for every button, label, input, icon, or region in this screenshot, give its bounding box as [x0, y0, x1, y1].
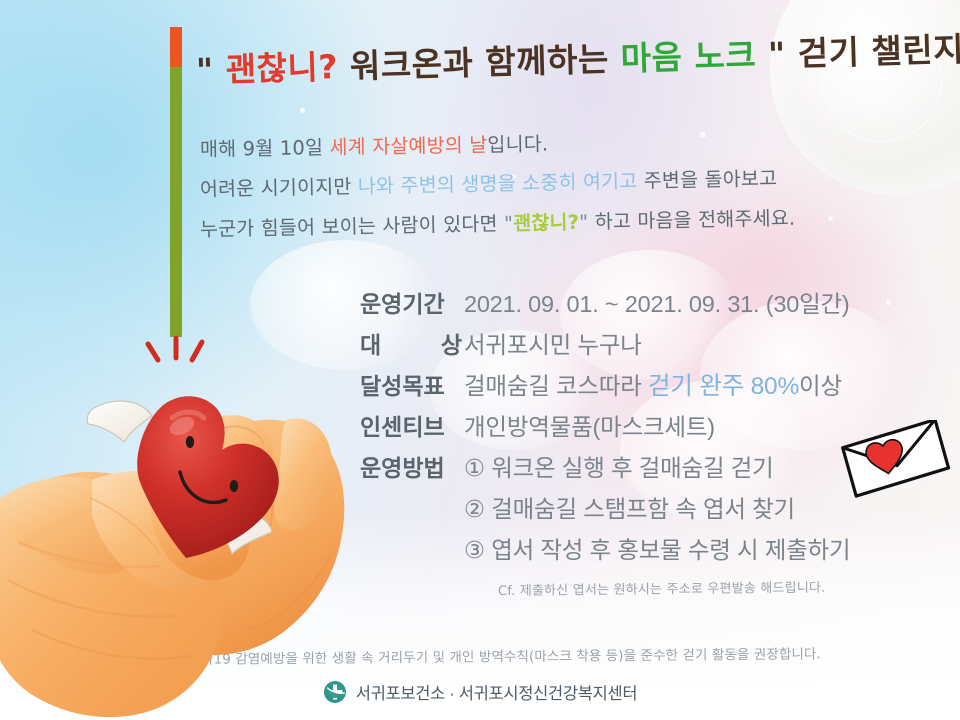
detail-value-goal: 걸매숨길 코스따라 걷기 완주 80%이상	[464, 367, 842, 402]
intro-line3-a: 누군가 힘들어 보이는 사람이 있다면	[200, 212, 504, 241]
intro-line2-a: 어려운 시기이지만	[200, 175, 358, 201]
intro-line3-c: 하고 마음을 전해주세요.	[588, 207, 795, 234]
intro-line1-a: 매해 9월 10일	[200, 136, 330, 161]
detail-label-target: 대 상	[360, 326, 464, 360]
title-close-quote: "	[768, 35, 787, 74]
cf-note: Cf. 제출하신 엽서는 원하시는 주소로 우편발송 해드립니다.	[498, 577, 826, 599]
title-open-quote: "	[196, 51, 215, 90]
footer-organizations: 서귀포보건소 · 서귀포시정신건강복지센터	[356, 680, 638, 704]
detail-label-spacer	[360, 490, 464, 531]
intro-paragraph: 매해 9월 10일 세계 자살예방의 날입니다. 어려운 시기이지만 나와 주변…	[200, 130, 940, 250]
title-red-segment: 괜찮니?	[225, 47, 338, 89]
detail-value-period: 2021. 09. 01. ~ 2021. 09. 31. (30일간)	[464, 285, 850, 319]
detail-value-method-step-2: ② 걸매숨길 스탬프함 속 엽서 찾기	[464, 490, 795, 531]
title-brown-segment-2: 걷기 챌린지	[797, 30, 960, 74]
hands-heart-svg	[0, 330, 350, 720]
detail-value-target: 서귀포시민 누구나	[464, 326, 642, 360]
detail-label-method: 운영방법	[360, 449, 464, 483]
envelope-with-heart-icon	[836, 420, 954, 500]
intro-line2-highlight: 나와 주변의 생명을 소중히 여기고	[358, 170, 638, 198]
red-sparkle-marks-icon	[148, 338, 202, 360]
intro-line2-c: 주변을 돌아보고	[637, 167, 777, 193]
detail-row-method-step-3: ③ 엽서 작성 후 홍보물 수령 시 제출하기	[360, 531, 920, 572]
cupped-hands-illustration	[0, 330, 350, 720]
detail-value-incentive: 개인방역물품(마스크세트)	[464, 408, 715, 442]
accent-bar	[170, 27, 182, 337]
poster-canvas: " 괜찮니? 워크온과 함께하는 마음 노크 " 걷기 챌린지 매해 9월 10…	[0, 0, 960, 720]
intro-line1-highlight: 세계 자살예방의 날	[329, 133, 487, 158]
envelope-svg	[836, 420, 954, 500]
detail-row-period: 운영기간 2021. 09. 01. ~ 2021. 09. 31. (30일간…	[360, 285, 920, 326]
title-green-segment: 마음 노크	[620, 35, 756, 78]
detail-label-incentive: 인센티브	[360, 408, 464, 442]
sparkle-dot-icon	[300, 108, 305, 113]
detail-row-goal: 달성목표 걸매숨길 코스따라 걷기 완주 80%이상	[360, 367, 920, 408]
detail-label-target-char1: 대	[360, 326, 381, 360]
title-brown-segment-1: 워크온과 함께하는	[349, 39, 609, 85]
detail-label-goal: 달성목표	[360, 367, 464, 401]
detail-label-target-char2: 상	[441, 326, 462, 360]
detail-value-goal-highlight: 걷기 완주 80%	[648, 373, 799, 400]
detail-value-method-step-3: ③ 엽서 작성 후 홍보물 수령 시 제출하기	[464, 531, 850, 572]
accent-bar-bottom-segment	[170, 67, 182, 337]
intro-line3-highlight: 괜찮니?	[513, 211, 579, 235]
detail-label-period: 운영기간	[360, 285, 464, 319]
detail-value-goal-b: 이상	[799, 373, 842, 399]
detail-row-target: 대 상 서귀포시민 누구나	[360, 326, 920, 367]
accent-bar-top-segment	[170, 27, 182, 67]
detail-label-spacer	[360, 531, 464, 572]
intro-line1-c: 입니다.	[487, 133, 548, 157]
detail-value-goal-a: 걸매숨길 코스따라	[464, 373, 648, 399]
detail-value-method-step-1: ① 워크온 실행 후 걸매숨길 걷기	[464, 449, 774, 483]
